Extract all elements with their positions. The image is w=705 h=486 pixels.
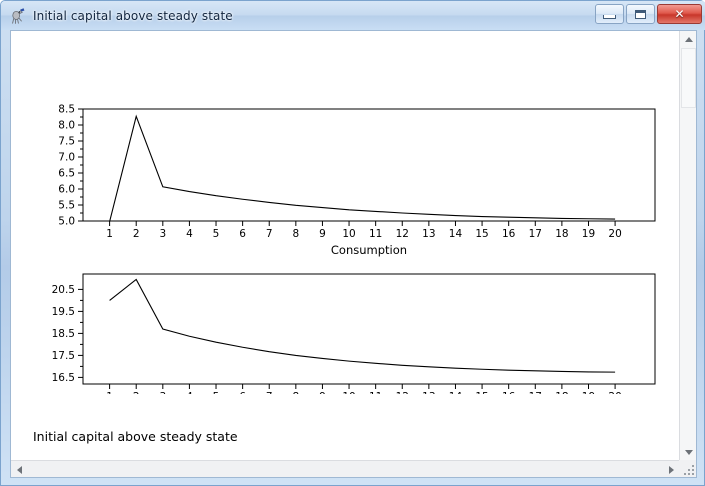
chart-capital: 16.517.518.519.520.5 1234567891011121314… — [11, 229, 680, 394]
x-tick-label: 16 — [502, 391, 516, 394]
x-tick-label: 17 — [529, 391, 542, 394]
vertical-scroll-thumb[interactable] — [681, 48, 696, 108]
x-tick-label: 1 — [106, 391, 113, 394]
x-tick-label: 5 — [213, 391, 220, 394]
minimize-icon — [603, 15, 616, 19]
triangle-left-icon — [17, 466, 22, 474]
client-area: 5.05.56.06.57.07.58.08.5 123456789101112… — [10, 30, 697, 478]
vertical-scrollbar[interactable] — [679, 31, 696, 461]
maximize-icon — [635, 10, 646, 19]
x-tick-label: 9 — [319, 391, 326, 394]
gretl-gnu-icon — [9, 7, 27, 25]
y-tick-label: 7.0 — [58, 152, 75, 164]
scroll-down-arrow[interactable] — [680, 444, 697, 461]
x-tick-label: 15 — [475, 391, 488, 394]
window-controls: ✕ — [595, 4, 702, 24]
maximize-button[interactable] — [626, 4, 655, 24]
y-tick-label: 8.0 — [58, 120, 75, 132]
x-tick-label: 4 — [186, 391, 193, 394]
capital-series-line — [110, 280, 615, 373]
triangle-down-icon — [685, 450, 693, 455]
title-bar[interactable]: Initial capital above steady state ✕ — [1, 1, 705, 30]
x-tick-label: 3 — [159, 391, 166, 394]
x-tick-label: 13 — [422, 391, 435, 394]
y-tick-label: 17.5 — [52, 350, 75, 362]
y-tick-label: 6.5 — [58, 168, 75, 180]
y-tick-label: 5.5 — [58, 200, 75, 212]
x-tick-label: 2 — [133, 391, 140, 394]
resize-grip[interactable] — [679, 460, 696, 477]
close-button[interactable]: ✕ — [657, 4, 702, 24]
y-tick-label: 6.0 — [58, 184, 75, 196]
x-tick-label: 6 — [239, 391, 246, 394]
x-tick-label: 14 — [449, 391, 463, 394]
x-tick-label: 18 — [555, 391, 568, 394]
y-tick-label: 20.5 — [52, 284, 75, 296]
y-tick-label: 16.5 — [52, 372, 75, 384]
triangle-up-icon — [685, 37, 693, 42]
window-title: Initial capital above steady state — [33, 9, 233, 23]
plot-caption: Initial capital above steady state — [33, 429, 238, 444]
scroll-up-arrow[interactable] — [680, 31, 697, 48]
x-tick-label: 7 — [266, 391, 273, 394]
x-tick-label: 12 — [396, 391, 409, 394]
plot-window: Initial capital above steady state ✕ 5.0… — [0, 0, 705, 486]
scroll-left-arrow[interactable] — [11, 461, 28, 478]
plot-canvas: 5.05.56.06.57.07.58.08.5 123456789101112… — [11, 31, 680, 461]
minimize-button[interactable] — [595, 4, 624, 24]
triangle-right-icon — [669, 466, 674, 474]
x-tick-label: 11 — [369, 391, 382, 394]
x-tick-label: 19 — [582, 391, 595, 394]
close-icon: ✕ — [674, 8, 684, 20]
y-tick-label: 7.5 — [58, 136, 75, 148]
horizontal-scrollbar[interactable] — [11, 460, 680, 477]
y-tick-label: 8.5 — [58, 104, 75, 116]
x-tick-label: 20 — [608, 391, 621, 394]
scroll-right-arrow[interactable] — [663, 461, 680, 478]
y-tick-label: 18.5 — [52, 328, 75, 340]
grip-dots-icon — [683, 464, 694, 475]
x-tick-label: 10 — [342, 391, 355, 394]
x-tick-label: 8 — [292, 391, 299, 394]
consumption-series-line — [110, 116, 615, 221]
y-tick-label: 19.5 — [52, 306, 75, 318]
y-tick-label: 5.0 — [58, 216, 75, 228]
